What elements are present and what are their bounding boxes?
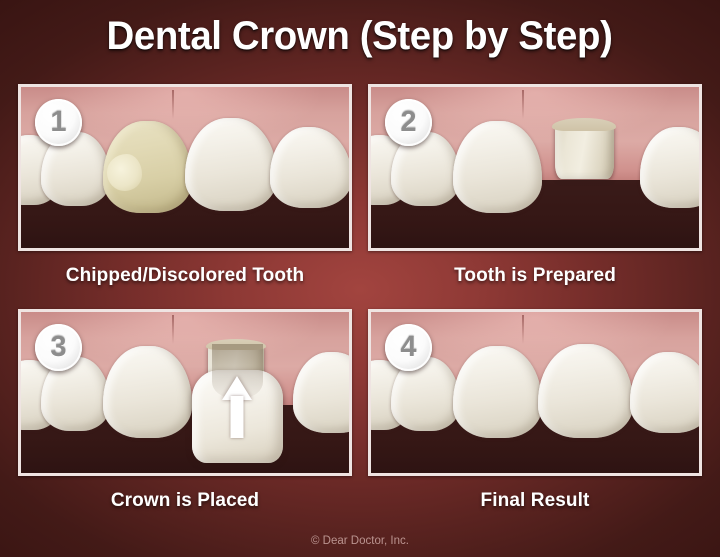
title-container: Dental Crown (Step by Step) xyxy=(0,14,720,59)
step-cell-1: 1 Chipped/Discolored Tooth xyxy=(18,84,352,287)
step-panel-1: 1 xyxy=(18,84,352,251)
copyright-credit: © Dear Doctor, Inc. xyxy=(0,535,720,547)
step-caption-3: Crown is Placed xyxy=(18,490,352,512)
gum-crease xyxy=(172,90,174,119)
tooth-central-left xyxy=(453,346,542,438)
tooth-discolored-chipped xyxy=(103,121,192,213)
tooth-far-right xyxy=(270,127,349,208)
step-number-3: 3 xyxy=(50,333,66,362)
step-cell-4: 4 Final Result xyxy=(368,309,702,512)
page-title: Dental Crown (Step by Step) xyxy=(107,14,613,59)
step-badge-2: 2 xyxy=(385,99,432,146)
step-badge-3: 3 xyxy=(35,324,82,371)
dental-crown-infographic: Dental Crown (Step by Step) xyxy=(0,0,720,557)
gum-crease xyxy=(522,315,524,344)
step-badge-4: 4 xyxy=(385,324,432,371)
step-panel-4: 4 xyxy=(368,309,702,476)
chip-defect xyxy=(107,154,142,191)
step-cell-2: 2 Tooth is Prepared xyxy=(368,84,702,287)
step-number-2: 2 xyxy=(400,108,416,137)
steps-row-2: 3 Crown is Placed xyxy=(18,309,702,534)
stub-crest xyxy=(552,118,616,130)
tooth-central-left xyxy=(453,121,542,213)
placement-arrow-icon xyxy=(222,376,252,438)
step-panel-3: 3 xyxy=(18,309,352,476)
step-caption-4: Final Result xyxy=(368,490,702,512)
step-badge-1: 1 xyxy=(35,99,82,146)
tooth-central-left xyxy=(103,346,192,438)
step-cell-3: 3 Crown is Placed xyxy=(18,309,352,512)
arrow-shaft xyxy=(231,396,244,438)
prepared-tooth-stub xyxy=(555,122,614,178)
step-panel-2: 2 xyxy=(368,84,702,251)
step-number-1: 1 xyxy=(50,108,66,137)
tooth-far-right xyxy=(630,352,699,433)
steps-grid: 1 Chipped/Discolored Tooth xyxy=(18,84,702,534)
step-caption-1: Chipped/Discolored Tooth xyxy=(18,265,352,287)
steps-row-1: 1 Chipped/Discolored Tooth xyxy=(18,84,702,309)
step-number-4: 4 xyxy=(400,333,416,362)
gum-crease xyxy=(172,315,174,344)
step-caption-2: Tooth is Prepared xyxy=(368,265,702,287)
gum-crease xyxy=(522,90,524,119)
